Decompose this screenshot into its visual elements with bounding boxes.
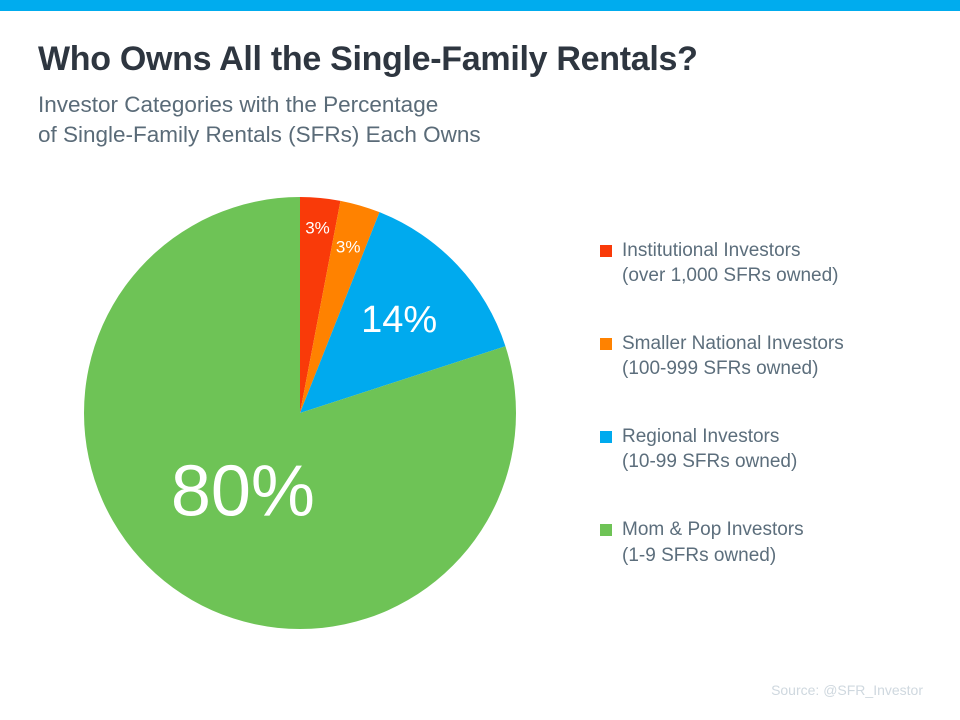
legend-item-mom-and-pop[interactable]: Mom & Pop Investors (1-9 SFRs owned) [600, 517, 940, 567]
square-swatch-icon [600, 245, 612, 257]
square-swatch-icon [600, 431, 612, 443]
pie-slice-value-label: 3% [336, 238, 361, 257]
pie-slice-value-label: 80% [171, 452, 315, 532]
pie-chart-svg: 3%3%14%80% [84, 197, 516, 629]
pie-slice-value-label: 14% [361, 299, 437, 341]
legend-item-label: Smaller National Investors [622, 331, 940, 356]
infographic-canvas: Who Owns All the Single-Family Rentals? … [0, 0, 960, 720]
top-accent-bar [0, 0, 960, 11]
subtitle-line-2: of Single-Family Rentals (SFRs) Each Own… [38, 120, 918, 150]
legend-item-label: Regional Investors [622, 424, 940, 449]
chart-legend: Institutional Investors (over 1,000 SFRs… [600, 238, 940, 568]
heading-block: Who Owns All the Single-Family Rentals? … [38, 40, 918, 150]
page-subtitle: Investor Categories with the Percentage … [38, 90, 918, 150]
source-attribution: Source: @SFR_Investor [771, 682, 923, 698]
legend-item-text: Smaller National Investors (100-999 SFRs… [622, 331, 940, 381]
legend-item-institutional[interactable]: Institutional Investors (over 1,000 SFRs… [600, 238, 940, 288]
legend-item-label: Mom & Pop Investors [622, 517, 940, 542]
legend-item-text: Institutional Investors (over 1,000 SFRs… [622, 238, 940, 288]
legend-item-smaller-national[interactable]: Smaller National Investors (100-999 SFRs… [600, 331, 940, 381]
pie-slice-value-label: 3% [305, 219, 330, 238]
legend-item-detail: (1-9 SFRs owned) [622, 543, 940, 568]
legend-item-regional[interactable]: Regional Investors (10-99 SFRs owned) [600, 424, 940, 474]
subtitle-line-1: Investor Categories with the Percentage [38, 90, 918, 120]
square-swatch-icon [600, 338, 612, 350]
legend-item-detail: (over 1,000 SFRs owned) [622, 263, 940, 288]
pie-chart: 3%3%14%80% [84, 197, 516, 629]
legend-item-label: Institutional Investors [622, 238, 940, 263]
legend-item-detail: (10-99 SFRs owned) [622, 449, 940, 474]
page-title: Who Owns All the Single-Family Rentals? [38, 40, 918, 78]
legend-item-text: Regional Investors (10-99 SFRs owned) [622, 424, 940, 474]
legend-item-detail: (100-999 SFRs owned) [622, 356, 940, 381]
pie-slice-group [84, 197, 516, 629]
legend-item-text: Mom & Pop Investors (1-9 SFRs owned) [622, 517, 940, 567]
square-swatch-icon [600, 524, 612, 536]
